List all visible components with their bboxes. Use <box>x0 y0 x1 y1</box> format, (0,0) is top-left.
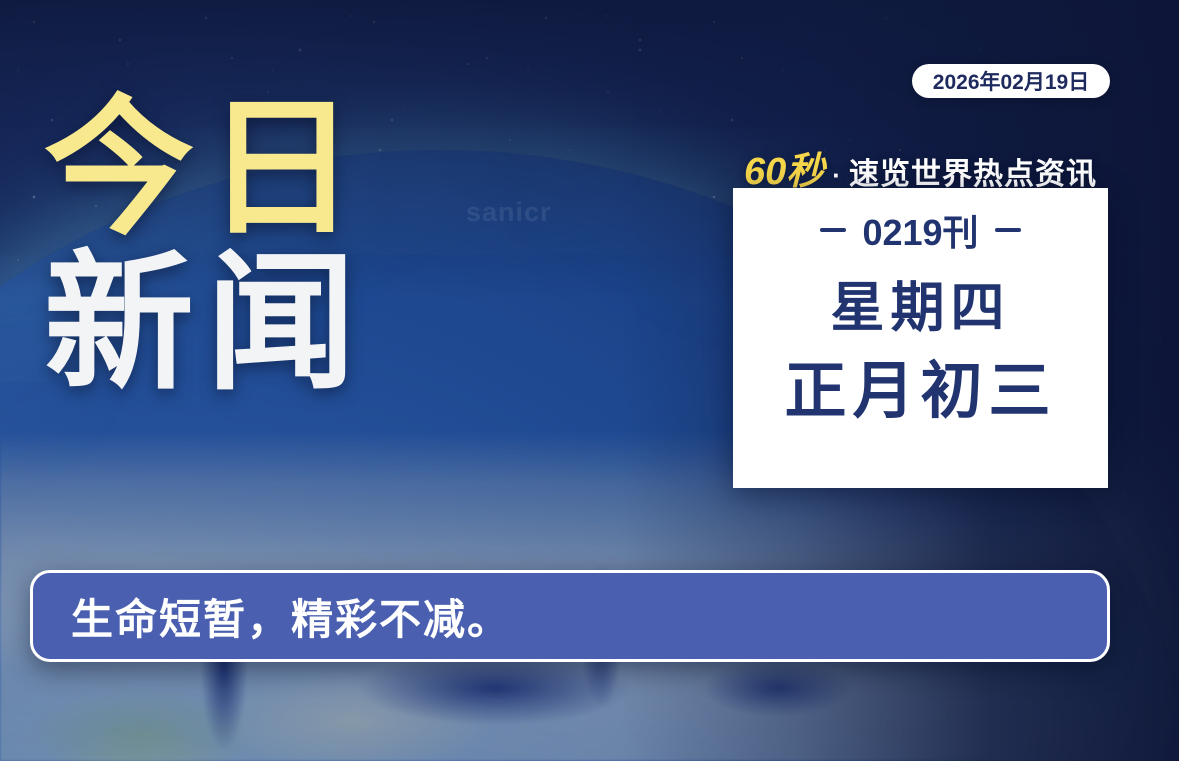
quote-text: 生命短暂，精彩不减。 <box>33 586 511 647</box>
weekday-label: 星期四 <box>831 280 1011 337</box>
lunar-date-label: 正月初三 <box>784 359 1056 424</box>
date-badge-label: 2026年02月19日 <box>933 66 1089 96</box>
masthead-line-today: 今日 <box>44 96 368 243</box>
tagline: 60秒 · 速览世界热点资讯 <box>744 140 1097 195</box>
masthead-line-news: 新闻 <box>44 251 368 398</box>
quote-bar: 生命短暂，精彩不减。 <box>30 570 1110 662</box>
news-poster: sanicr 今日 新闻 2026年02月19日 60秒 · 速览世界热点资讯 … <box>0 0 1179 761</box>
issue-dash-left-icon <box>820 228 846 232</box>
issue-row: 0219刊 <box>820 204 1020 256</box>
info-card: 0219刊 星期四 正月初三 <box>733 188 1108 488</box>
tagline-description: 速览世界热点资讯 <box>849 149 1097 193</box>
masthead: 今日 新闻 <box>44 96 368 398</box>
tagline-duration: 60秒 <box>744 140 824 195</box>
issue-dash-right-icon <box>995 228 1021 232</box>
date-badge: 2026年02月19日 <box>912 64 1110 98</box>
issue-number: 0219刊 <box>862 204 978 256</box>
tagline-separator-dot: · <box>830 160 843 191</box>
